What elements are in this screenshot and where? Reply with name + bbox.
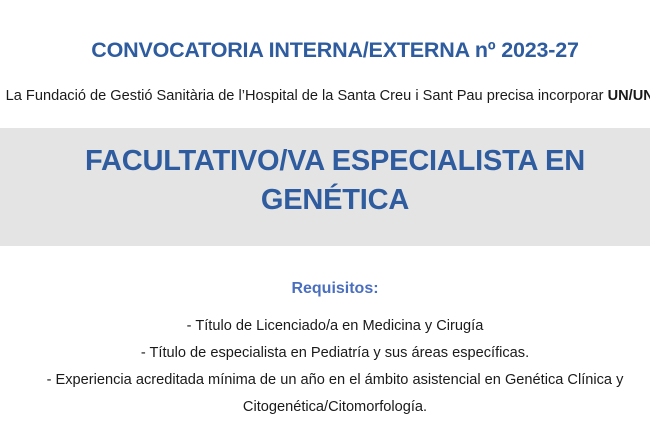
list-item: - Experiencia acreditada mínima de un añ… <box>0 372 650 399</box>
convocatoria-title: CONVOCATORIA INTERNA/EXTERNA nº 2023-27 <box>0 38 650 63</box>
position-title-line-1: FACULTATIVO/VA ESPECIALISTA EN <box>0 142 650 181</box>
list-item: - Título de Licenciado/a en Medicina y C… <box>0 318 650 345</box>
intro-lead-text: La Fundació de Gestió Sanitària de l’Hos… <box>6 88 608 104</box>
list-item: - Título de especialista en Pediatría y … <box>0 345 650 372</box>
intro-paragraph: La Fundació de Gestió Sanitària de l’Hos… <box>0 88 650 104</box>
position-banner: FACULTATIVO/VA ESPECIALISTA EN GENÉTICA <box>0 128 650 246</box>
document-page: CONVOCATORIA INTERNA/EXTERNA nº 2023-27 … <box>0 0 650 433</box>
requirements-heading: Requisitos: <box>0 280 650 298</box>
position-banner-inner: FACULTATIVO/VA ESPECIALISTA EN GENÉTICA <box>0 128 650 246</box>
position-title: FACULTATIVO/VA ESPECIALISTA EN GENÉTICA <box>0 142 650 220</box>
position-title-line-2: GENÉTICA <box>0 181 650 220</box>
list-item: Citogenética/Citomorfología. <box>0 399 650 426</box>
requirements-list: - Título de Licenciado/a en Medicina y C… <box>0 318 650 426</box>
intro-emphasis-text: UN/UNA <box>608 88 650 104</box>
